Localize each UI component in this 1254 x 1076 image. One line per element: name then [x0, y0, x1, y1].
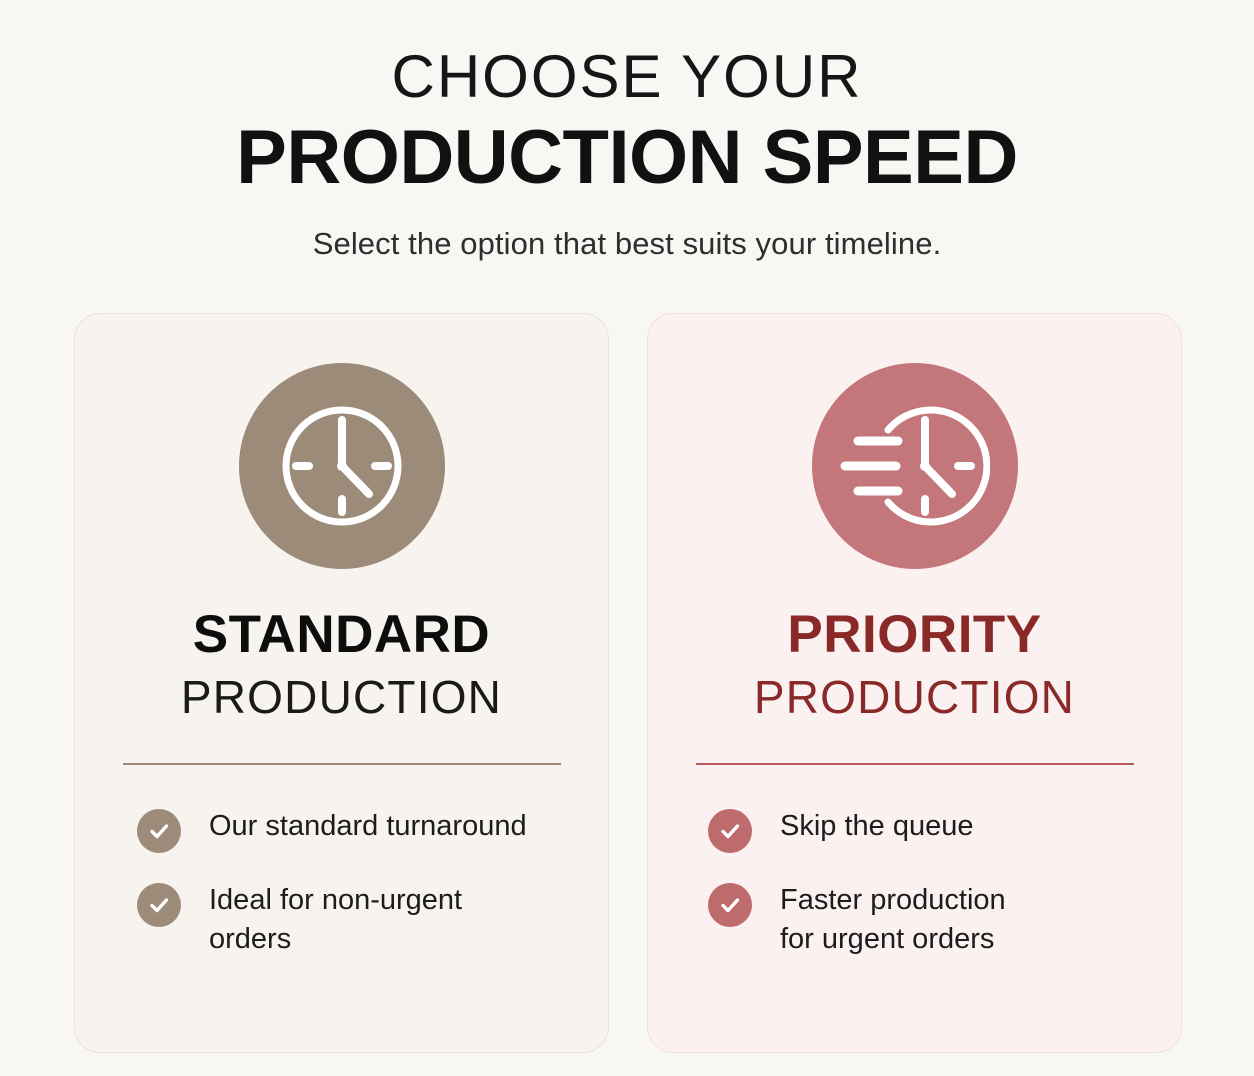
feature-list-standard: Our standard turnaround Ideal for non-ur… — [131, 807, 552, 986]
feature-label: Ideal for non-urgent orders — [209, 881, 552, 958]
list-item: Faster production for urgent orders — [708, 881, 1006, 958]
page-subtitle: Select the option that best suits your t… — [0, 226, 1254, 262]
feature-list-priority: Skip the queue Faster production for urg… — [704, 807, 1125, 986]
feature-label: Skip the queue — [780, 807, 973, 845]
option-card-standard[interactable]: STANDARD PRODUCTION Our standard turnaro… — [74, 313, 609, 1053]
production-speed-selector: CHOOSE YOUR PRODUCTION SPEED Select the … — [0, 0, 1254, 1076]
card-title-priority: PRIORITY — [787, 608, 1041, 661]
page-header: CHOOSE YOUR PRODUCTION SPEED Select the … — [0, 0, 1254, 262]
clock-icon — [239, 363, 445, 569]
option-card-priority[interactable]: PRIORITY PRODUCTION Skip the queue — [647, 313, 1182, 1053]
list-item: Ideal for non-urgent orders — [137, 881, 552, 958]
fast-clock-icon — [812, 363, 1018, 569]
card-subtitle-standard: PRODUCTION — [181, 673, 502, 721]
feature-label: Faster production for urgent orders — [780, 881, 1006, 958]
page-title-line-1: CHOOSE YOUR — [0, 47, 1254, 107]
card-subtitle-priority: PRODUCTION — [754, 673, 1075, 721]
option-cards-row: STANDARD PRODUCTION Our standard turnaro… — [74, 313, 1182, 1053]
list-item: Our standard turnaround — [137, 807, 527, 853]
card-divider-priority — [696, 763, 1134, 765]
card-title-standard: STANDARD — [193, 608, 490, 661]
feature-label: Our standard turnaround — [209, 807, 527, 845]
page-title-line-2: PRODUCTION SPEED — [0, 115, 1254, 200]
check-icon — [708, 883, 752, 927]
check-icon — [708, 809, 752, 853]
check-icon — [137, 809, 181, 853]
list-item: Skip the queue — [708, 807, 973, 853]
card-divider-standard — [123, 763, 561, 765]
check-icon — [137, 883, 181, 927]
